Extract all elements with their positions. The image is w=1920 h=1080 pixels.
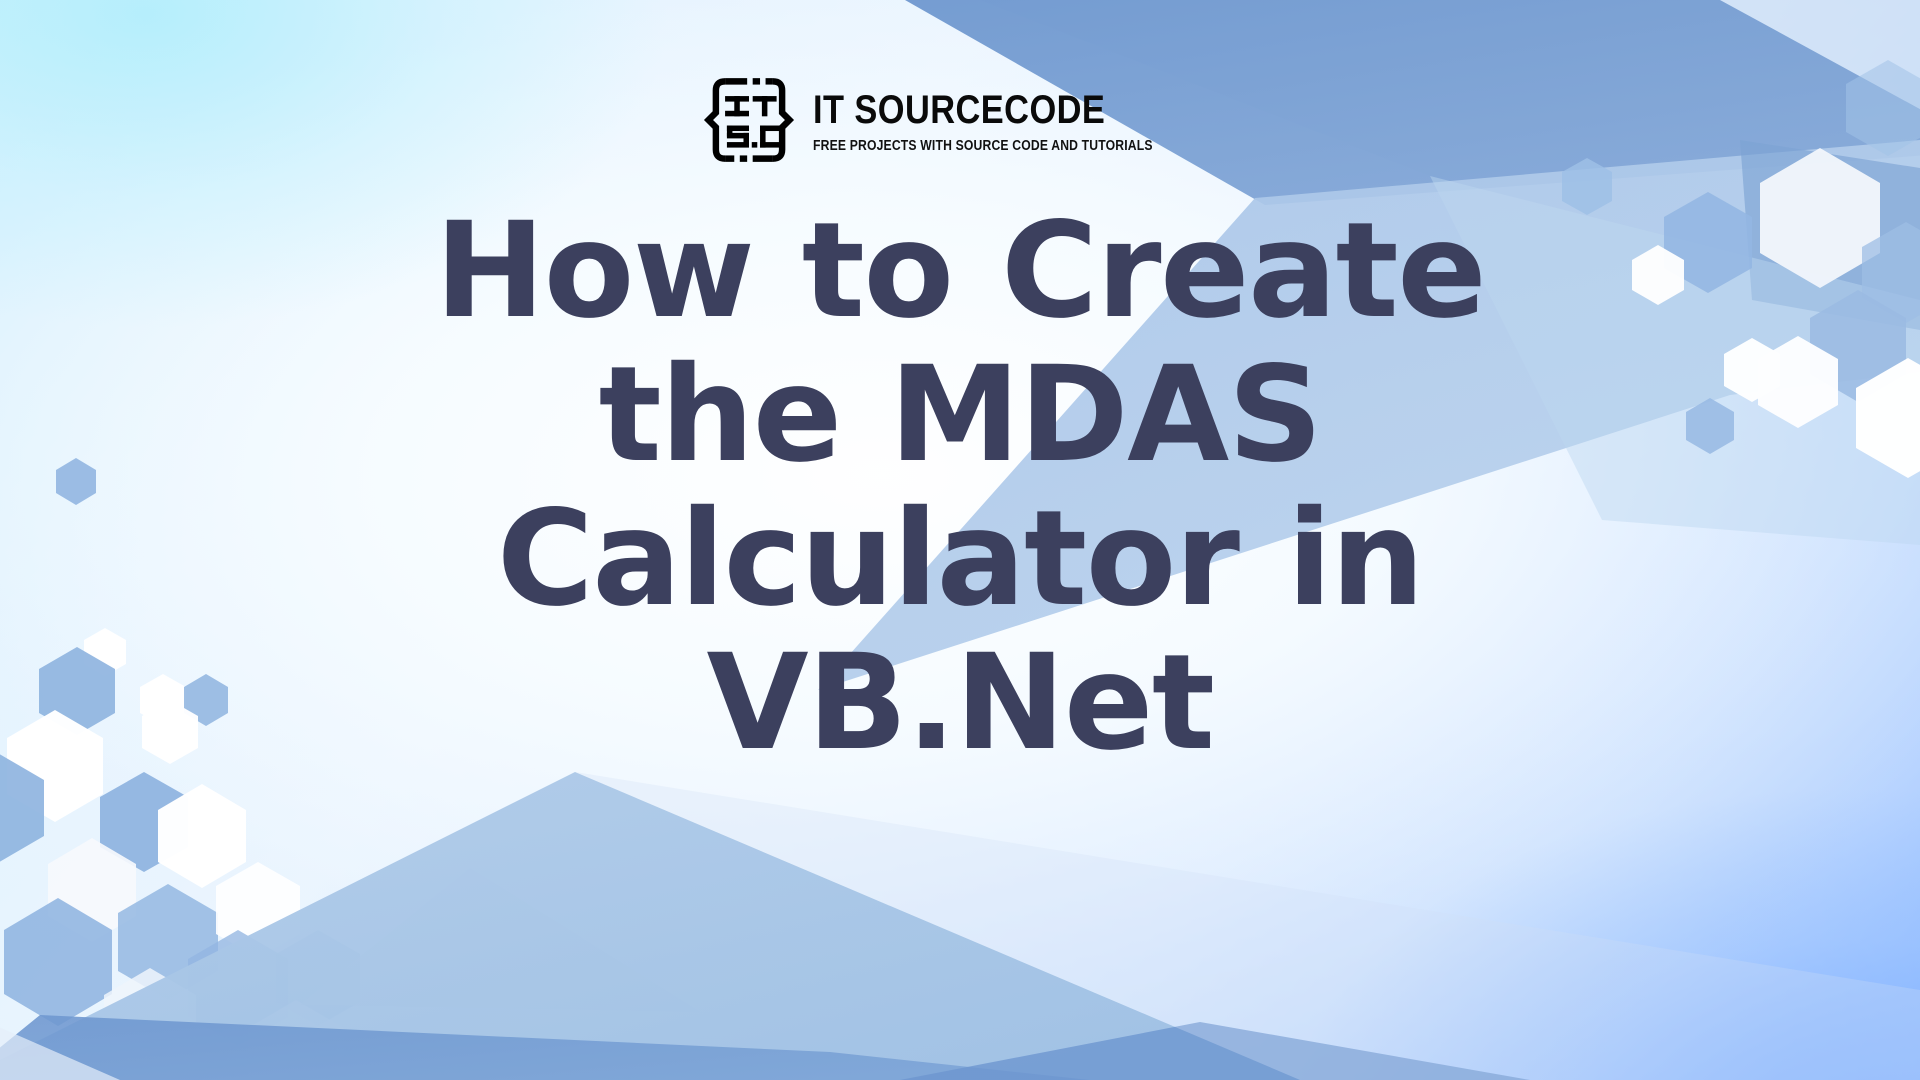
- brand-wordmark: IT SOURCECODE FREE PROJECTS WITH SOURCE …: [813, 86, 1217, 154]
- brand-logo-lockup[interactable]: IT SOURCECODE FREE PROJECTS WITH SOURCE …: [703, 74, 1217, 166]
- itsc-bracket-monogram-icon: [703, 74, 795, 166]
- title-line-1: How to Create: [370, 200, 1550, 344]
- brand-tagline: FREE PROJECTS WITH SOURCE CODE AND TUTOR…: [813, 139, 1153, 154]
- title-line-4: VB.Net: [370, 632, 1550, 776]
- page-title: How to Create the MDAS Calculator in VB.…: [370, 200, 1550, 776]
- title-line-2: the MDAS: [370, 344, 1550, 488]
- title-line-3: Calculator in: [370, 488, 1550, 632]
- banner-content: IT SOURCECODE FREE PROJECTS WITH SOURCE …: [0, 0, 1920, 1080]
- banner-canvas: IT SOURCECODE FREE PROJECTS WITH SOURCE …: [0, 0, 1920, 1080]
- brand-name: IT SOURCECODE: [813, 90, 1105, 130]
